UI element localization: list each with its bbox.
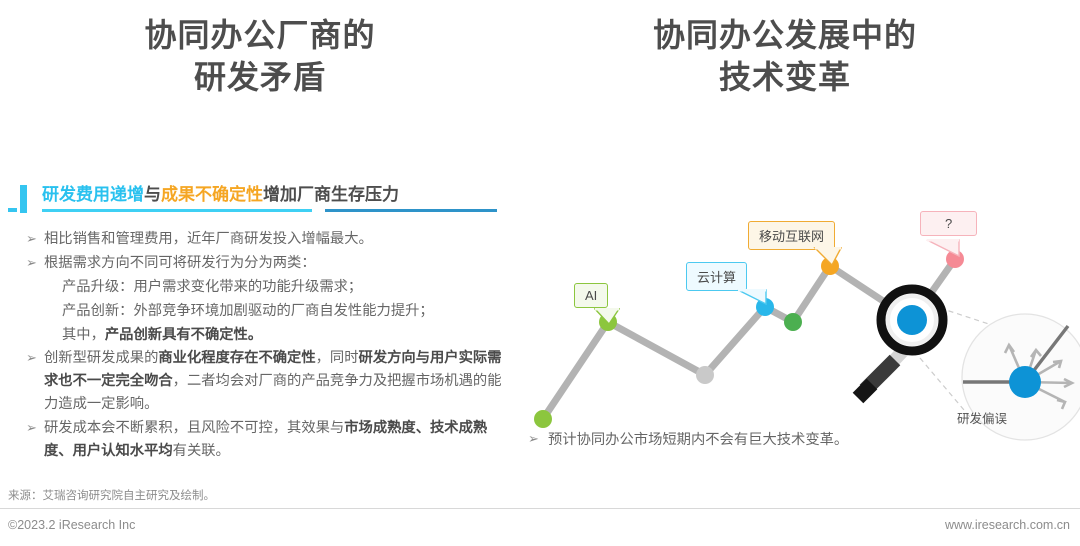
footer-copyright: ©2023.2 iResearch Inc [8, 518, 135, 532]
heading-part-2: 与 [144, 185, 161, 204]
callout-mobile-internet[interactable]: 移动互联网 [748, 221, 835, 250]
bullet-marker-icon: ➢ [26, 228, 44, 249]
bullet-marker-icon: ➢ [26, 417, 44, 438]
bullet-item: ➢研发成本会不断累积，且风险不可控，其效果与市场成熟度、技术成熟度、用户认知水平… [26, 417, 512, 463]
bullet-text: 研发成本会不断累积，且风险不可控，其效果与市场成熟度、技术成熟度、用户认知水平均… [44, 417, 512, 463]
bullet-item: 产品升级：用户需求变化带来的功能升级需求； [26, 276, 512, 299]
bullet-item: ➢创新型研发成果的商业化程度存在不确定性，同时研发方向与用户实际需求也不一定完全… [26, 347, 512, 416]
bullet-item: ➢根据需求方向不同可将研发行为分为两类： [26, 252, 512, 275]
callout-ai-tail [594, 308, 620, 326]
bullet-marker-icon: ➢ [26, 252, 44, 273]
bullet-list: ➢相比销售和管理费用，近年厂商研发投入增幅最大。➢根据需求方向不同可将研发行为分… [26, 228, 512, 464]
callout-future-unknown-tail [926, 239, 960, 259]
zoom-center-dot [1009, 366, 1041, 398]
bullet-text: 根据需求方向不同可将研发行为分为两类： [44, 252, 512, 275]
slide: 协同办公厂商的 研发矛盾 协同办公发展中的 技术变革 研发费用递增与成果不确定性… [0, 0, 1080, 546]
bullet-text: 相比销售和管理费用，近年厂商研发投入增幅最大。 [44, 228, 512, 251]
right-panel-note-text: 预计协同办公市场短期内不会有巨大技术变革。 [548, 428, 848, 449]
bullet-item: 其中，产品创新具有不确定性。 [26, 324, 512, 347]
bullet-text: 产品升级：用户需求变化带来的功能升级需求； [44, 276, 512, 299]
chart-data-point[interactable] [534, 410, 552, 428]
footer-website[interactable]: www.iresearch.com.cn [945, 518, 1070, 532]
bullet-text: 产品创新：外部竞争环境加剧驱动的厂商自发性能力提升； [44, 300, 512, 323]
chart-data-point[interactable] [784, 313, 802, 331]
heading-accent-dash [8, 208, 17, 212]
heading-part-4: 增加厂商生存压力 [263, 185, 399, 204]
footer-divider [0, 508, 1080, 509]
right-panel-note: ➢ 预计协同办公市场短期内不会有巨大技术变革。 [528, 428, 848, 449]
heading-part-1: 研发费用递增 [42, 185, 144, 204]
bullet-marker-icon: ➢ [528, 428, 548, 449]
page-title-left: 协同办公厂商的 研发矛盾 [40, 14, 480, 98]
magnifier-icon [858, 289, 943, 398]
bullet-item: ➢相比销售和管理费用，近年厂商研发投入增幅最大。 [26, 228, 512, 251]
heading-part-3: 成果不确定性 [161, 185, 263, 204]
chart-data-point[interactable] [696, 366, 714, 384]
callout-cloud-computing-tail [737, 289, 767, 307]
bullet-item: 产品创新：外部竞争环境加剧驱动的厂商自发性能力提升； [26, 300, 512, 323]
section-heading: 研发费用递增与成果不确定性增加厂商生存压力 [42, 182, 399, 208]
page-title-right: 协同办公发展中的 技术变革 [565, 14, 1005, 98]
callout-future-unknown[interactable]: ? [920, 211, 977, 236]
callout-ai[interactable]: AI [574, 283, 608, 308]
callout-mobile-internet-tail [810, 247, 842, 267]
zoom-circle-label: 研发偏误 [957, 408, 1007, 427]
heading-rule-cyan [42, 209, 312, 212]
bullet-text: 其中，产品创新具有不确定性。 [44, 324, 512, 347]
heading-accent-bar [20, 185, 27, 213]
callout-cloud-computing[interactable]: 云计算 [686, 262, 747, 291]
bullet-text: 创新型研发成果的商业化程度存在不确定性，同时研发方向与用户实际需求也不一定完全吻… [44, 347, 512, 416]
heading-rule-blue [325, 209, 497, 212]
source-note: 来源：艾瑞咨询研究院自主研究及绘制。 [8, 487, 215, 503]
bullet-marker-icon: ➢ [26, 347, 44, 368]
